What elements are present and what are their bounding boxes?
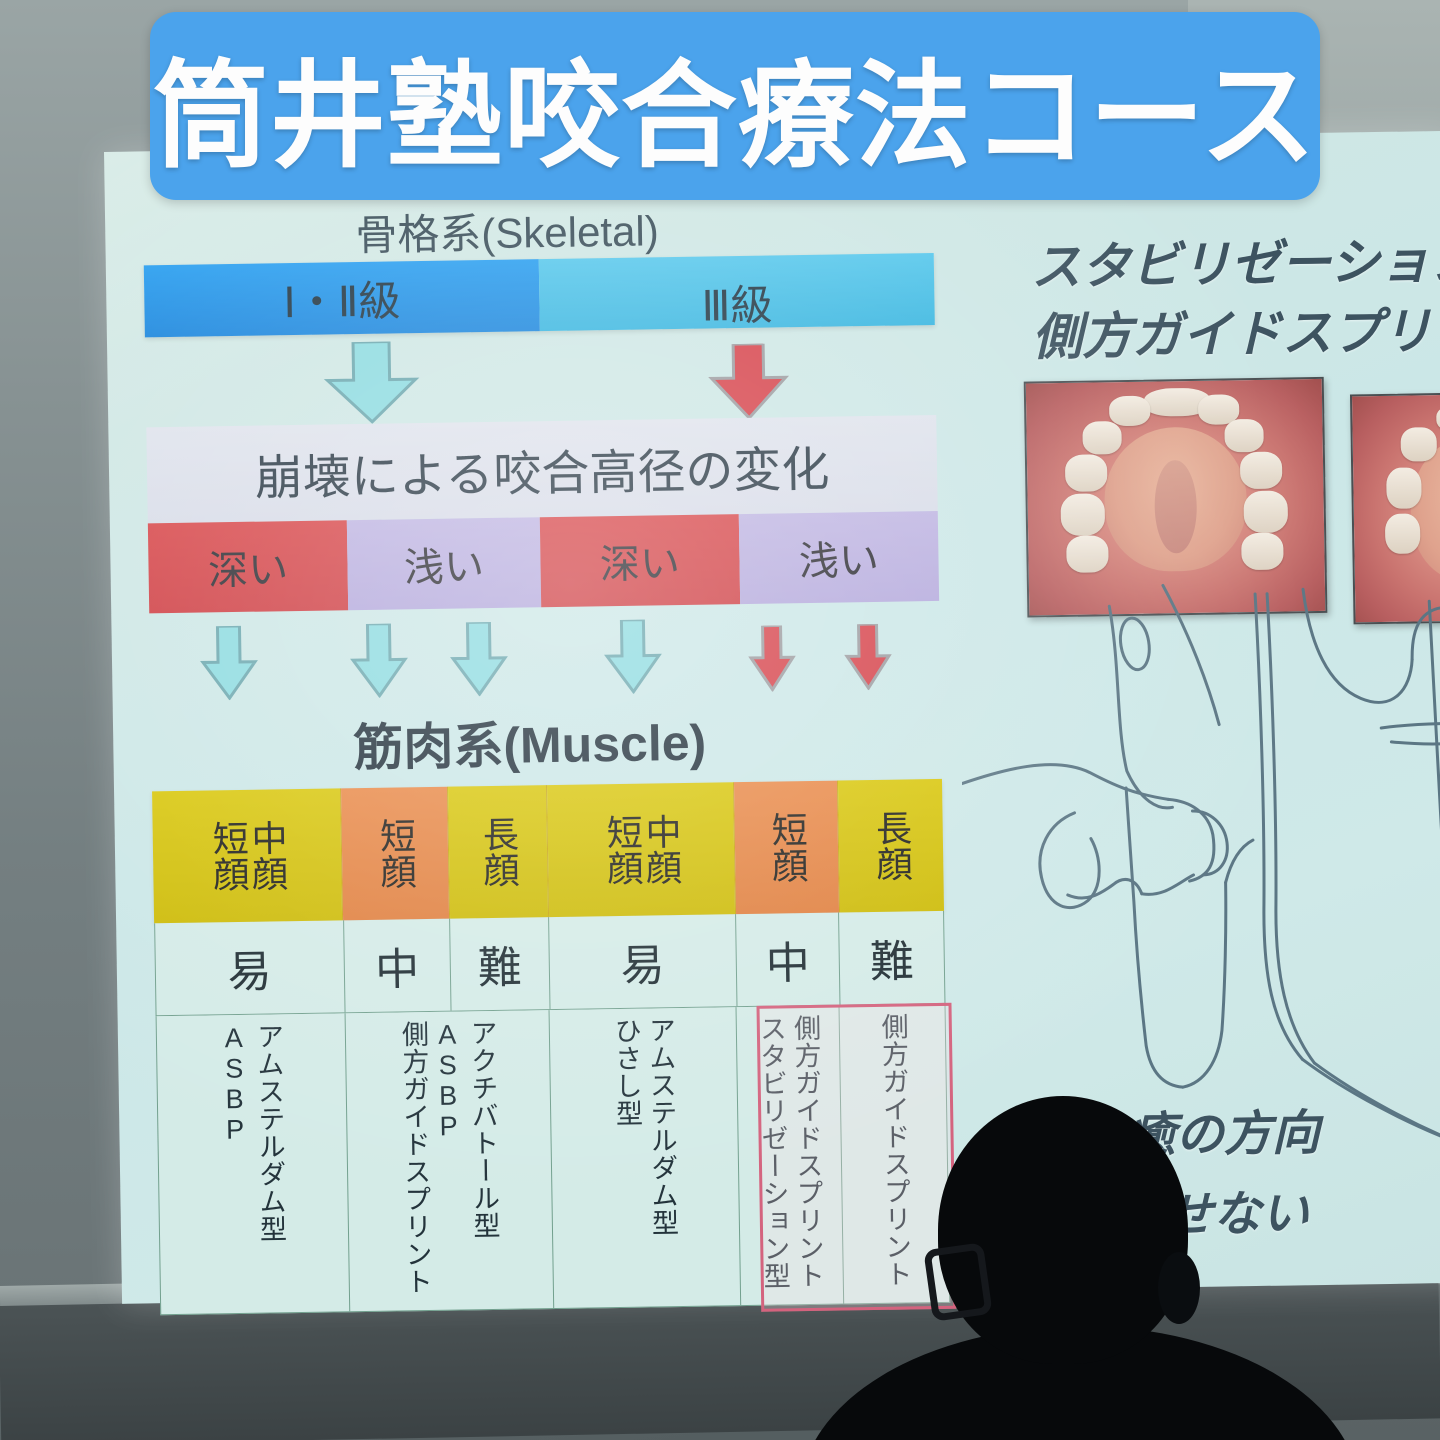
face-cell-1: 短顔 中顔 xyxy=(152,788,343,923)
difficulty-cell-2: 中 xyxy=(344,919,452,1013)
muscle-section-label: 筋肉系(Muscle) xyxy=(353,703,707,781)
difficulty-cell-6: 難 xyxy=(839,911,944,1005)
face-label-4a: 短顔 xyxy=(603,814,641,887)
glasses-icon xyxy=(923,1242,992,1322)
treatment-row: アムステルダム型 ASBP アクチバトール型 ASBP 側方ガイドスプリント xyxy=(156,1004,951,1315)
depth-cell-deep-1: 深い xyxy=(148,520,348,613)
treatment-cell-2: アクチバトール型 ASBP 側方ガイドスプリント xyxy=(345,1010,554,1311)
face-cell-2: 短顔 xyxy=(341,787,450,921)
skeletal-class-3-cell: Ⅲ級 xyxy=(539,253,935,331)
silhouette-ear xyxy=(1158,1252,1200,1324)
occlusal-height-change-band: 崩壊による咬合高径の変化 xyxy=(146,415,937,523)
mid-arrow-3-icon xyxy=(449,622,508,697)
depth-row: 深い 浅い 深い 浅い xyxy=(148,511,939,613)
difficulty-cell-1: 易 xyxy=(155,920,345,1015)
silhouette-head xyxy=(938,1096,1188,1364)
face-label-6a: 長顔 xyxy=(872,809,910,882)
skeletal-class-1-2-cell: Ⅰ・Ⅱ級 xyxy=(144,259,540,337)
face-type-row: 短顔 中顔 短顔 長顔 短顔 中顔 xyxy=(152,779,944,923)
treatment-line-2b: ASBP xyxy=(432,1019,467,1309)
depth-cell-deep-2: 深い xyxy=(540,514,740,607)
course-title-banner: 筒井塾咬合療法コース xyxy=(150,12,1320,200)
course-title-text: 筒井塾咬合療法コース xyxy=(153,22,1317,190)
arrow-class-3-icon xyxy=(707,343,790,420)
occlusal-height-change-label: 崩壊による咬合高径の変化 xyxy=(254,430,830,509)
skeletal-class-1-2-label: Ⅰ・Ⅱ級 xyxy=(283,267,401,330)
difficulty-cell-3: 難 xyxy=(450,917,550,1011)
treatment-line-3b: ひさし型 xyxy=(610,1017,645,1307)
depth-cell-shallow-2: 浅い xyxy=(739,511,939,604)
mid-arrow-4-icon xyxy=(603,619,662,694)
face-cell-3: 長顔 xyxy=(448,785,549,919)
treatment-line-1b: ASBP xyxy=(218,1023,253,1313)
face-cell-5: 短顔 xyxy=(734,781,840,915)
mid-arrow-2-icon xyxy=(349,623,408,698)
face-label-3a: 長顔 xyxy=(479,816,517,889)
treatment-line-4b: スタビリゼーション型 xyxy=(755,1014,790,1304)
mid-arrow-6-icon xyxy=(844,624,893,691)
mid-arrow-5-icon xyxy=(748,625,797,692)
audience-silhouette xyxy=(840,1096,1310,1440)
treatment-line-3a: アムステルダム型 xyxy=(644,1016,679,1306)
treatment-table: 短顔 中顔 短顔 長顔 短顔 中顔 xyxy=(152,779,950,1315)
skeletal-class-3-label: Ⅲ級 xyxy=(701,271,773,333)
treatment-cell-1: アムステルダム型 ASBP xyxy=(157,1013,350,1314)
face-label-1a: 短顔 xyxy=(209,820,247,893)
face-label-4b: 中顔 xyxy=(642,813,680,886)
mid-arrow-1-icon xyxy=(199,626,258,701)
face-label-1b: 中顔 xyxy=(248,819,286,892)
treatment-cell-3: アムステルダム型 ひさし型 xyxy=(549,1007,741,1308)
difficulty-cell-4: 易 xyxy=(549,914,737,1009)
treatment-line-2a: アクチバトール型 xyxy=(466,1019,501,1309)
screenshot-root: 骨格系(Skeletal) Ⅰ・Ⅱ級 Ⅲ級 xyxy=(0,0,1440,1440)
annotation-lateral-guide-splint: 側方ガイドスプリ xyxy=(1031,291,1432,369)
treatment-line-4a: 側方ガイドスプリント xyxy=(790,1014,825,1304)
treatment-line-1a: アムステルダム型 xyxy=(252,1022,287,1312)
arrow-class-1-2-icon xyxy=(323,341,420,424)
treatment-line-2c: 側方ガイドスプリント xyxy=(398,1020,433,1310)
skeletal-section-label: 骨格系(Skeletal) xyxy=(355,197,659,263)
face-cell-4: 短顔 中顔 xyxy=(547,782,736,917)
face-label-2a: 短顔 xyxy=(376,817,414,890)
depth-cell-shallow-1: 浅い xyxy=(347,517,541,610)
difficulty-row: 易 中 難 易 中 難 xyxy=(154,911,945,1016)
face-cell-6: 長顔 xyxy=(838,779,944,913)
treatment-cell-4: 側方ガイドスプリント スタビリゼーション型 xyxy=(736,1006,844,1306)
difficulty-cell-5: 中 xyxy=(736,913,841,1007)
skeletal-class-bar: Ⅰ・Ⅱ級 Ⅲ級 xyxy=(144,253,935,337)
face-label-5a: 短顔 xyxy=(768,811,806,884)
annotation-stabilization: スタビリゼーション xyxy=(1030,220,1440,299)
